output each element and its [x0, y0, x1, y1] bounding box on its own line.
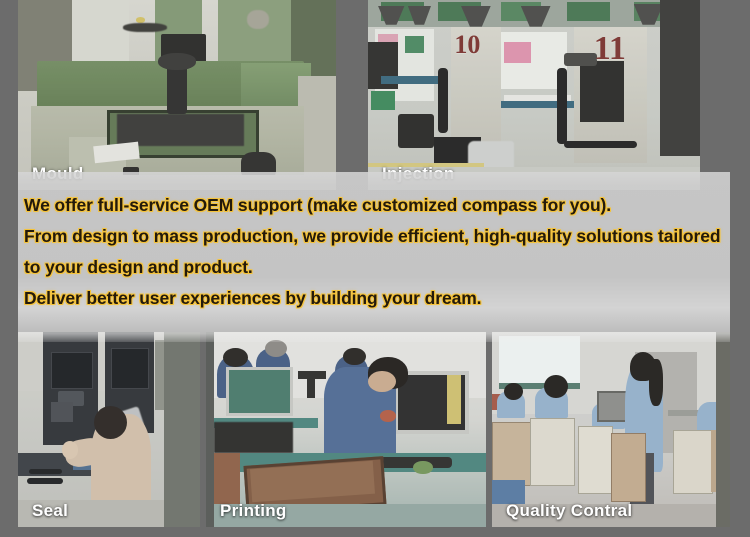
quality-control-photo: [492, 332, 730, 527]
overlay-text-block: We offer full-service OEM support (make …: [18, 190, 738, 314]
machine-number-11: 11: [594, 30, 626, 68]
machine-number-10: 10: [454, 30, 480, 60]
panel-label-injection: Injection: [382, 164, 455, 184]
panel-label-printing: Printing: [220, 501, 287, 521]
overlay-text-line-4: Deliver better user experiences by build…: [18, 283, 738, 314]
overlay-text-line-1: We offer full-service OEM support (make …: [18, 190, 738, 221]
mould-photo: [18, 0, 336, 190]
overlay-text-line-2: From design to mass production, we provi…: [18, 221, 738, 252]
panel-label-quality-control: Quality Contral: [506, 501, 632, 521]
injection-photo: 10 11: [368, 0, 700, 190]
photo-panel-mould: Mould: [18, 0, 336, 190]
photo-panel-seal: Seal: [18, 332, 200, 527]
overlay-text-line-3: to your design and product.: [18, 252, 738, 283]
panel-label-mould: Mould: [32, 164, 84, 184]
photo-panel-quality-control: Quality Contral: [492, 332, 730, 527]
seal-photo: [18, 332, 200, 527]
photo-panel-printing: Printing: [206, 332, 486, 527]
photo-panel-injection: 10 11 Injection: [368, 0, 700, 190]
oem-capability-banner: Mould: [0, 0, 750, 537]
printing-photo: [206, 332, 486, 527]
panel-label-seal: Seal: [32, 501, 68, 521]
